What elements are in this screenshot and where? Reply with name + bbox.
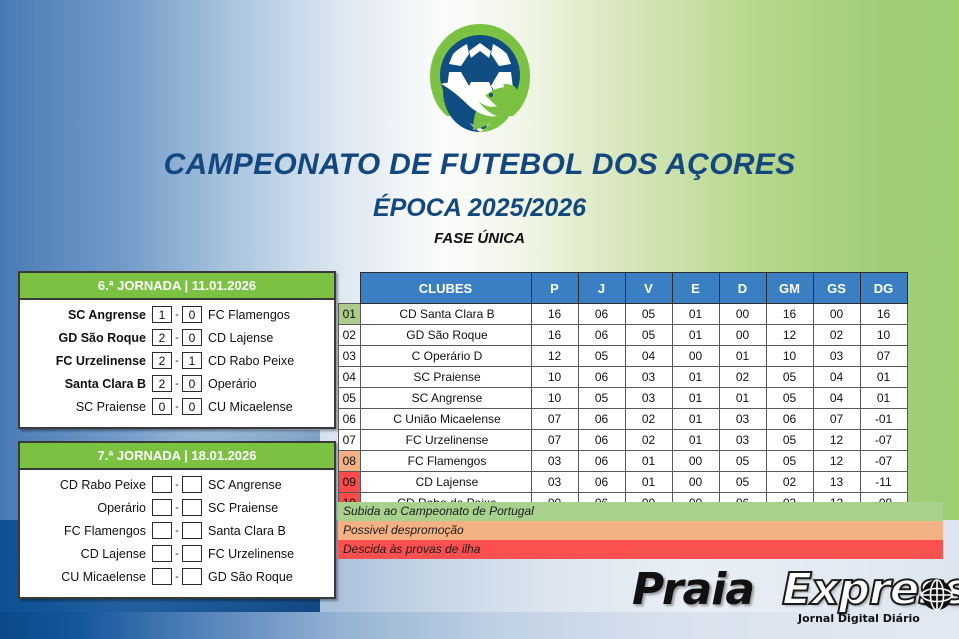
legend-row: Possivel despromoção <box>338 521 943 540</box>
standings-gm: 05 <box>766 430 813 451</box>
fixture-away-score[interactable] <box>182 476 202 493</box>
fixture-home-team: Operário <box>28 501 152 515</box>
standings-club-name: GD São Roque <box>360 325 531 346</box>
fixture-away-score[interactable]: 1 <box>182 352 202 369</box>
standings-gs: 04 <box>813 388 860 409</box>
fixture-home-score[interactable]: 2 <box>152 352 172 369</box>
round-panel-6-title: 6.ª JORNADA | 11.01.2026 <box>20 273 334 300</box>
fixture-dash: - <box>172 332 182 344</box>
fixture-away-score[interactable] <box>182 545 202 562</box>
fixture-home-score[interactable]: 1 <box>152 306 172 323</box>
standings-v: 01 <box>625 472 672 493</box>
fixture-home-score[interactable] <box>152 568 172 585</box>
standings-e: 00 <box>672 472 719 493</box>
table-row: 08FC Flamengos03060100050512-07 <box>339 451 908 472</box>
table-row: 02GD São Roque1606050100120210 <box>339 325 908 346</box>
standings-p: 16 <box>531 325 578 346</box>
fixture-dash: - <box>172 548 182 560</box>
table-row: 06C União Micaelense07060201030607-01 <box>339 409 908 430</box>
standings-p: 10 <box>531 388 578 409</box>
column-header-gm: GM <box>766 273 813 304</box>
standings-j: 06 <box>578 304 625 325</box>
fixture-away-team: FC Flamengos <box>202 308 326 322</box>
fixture-home-score[interactable] <box>152 499 172 516</box>
standings-header-row: CLUBES P J V E D GM GS DG <box>339 273 908 304</box>
fixture-home-team: CD Rabo Peixe <box>28 478 152 492</box>
standings-p: 03 <box>531 472 578 493</box>
fixture-home-team: GD São Roque <box>28 331 152 345</box>
standings-club-name: C Operário D <box>360 346 531 367</box>
praia-express-logo: Praia Express Jornal Digital Diário <box>632 562 954 624</box>
standings-gm: 05 <box>766 367 813 388</box>
standings-d: 05 <box>719 472 766 493</box>
standings-club-name: SC Angrense <box>360 388 531 409</box>
standings-e: 01 <box>672 409 719 430</box>
standings-j: 06 <box>578 430 625 451</box>
round-7-fixtures: CD Rabo Peixe-SC AngrenseOperário-SC Pra… <box>20 470 334 592</box>
standings-gs: 00 <box>813 304 860 325</box>
fixture-home-team: FC Urzelinense <box>28 354 152 368</box>
round-6-fixtures: SC Angrense1-0FC FlamengosGD São Roque2-… <box>20 300 334 422</box>
standings-j: 06 <box>578 472 625 493</box>
fixture-home-score[interactable] <box>152 522 172 539</box>
fixture-row: Operário-SC Praiense <box>28 496 326 519</box>
standings-p: 10 <box>531 367 578 388</box>
fixture-dash: - <box>172 309 182 321</box>
standings-gm: 06 <box>766 409 813 430</box>
standings-p: 07 <box>531 409 578 430</box>
fixture-row: CD Rabo Peixe-SC Angrense <box>28 473 326 496</box>
brand-tagline: Jornal Digital Diário <box>798 612 920 625</box>
table-row: 03C Operário D1205040001100307 <box>339 346 908 367</box>
standings-v: 02 <box>625 430 672 451</box>
standings-club-name: CD Lajense <box>360 472 531 493</box>
standings-club-name: C União Micaelense <box>360 409 531 430</box>
standings-position: 02 <box>339 325 361 346</box>
fixture-home-team: Santa Clara B <box>28 377 152 391</box>
fixture-home-score[interactable]: 2 <box>152 375 172 392</box>
standings-p: 07 <box>531 430 578 451</box>
standings-j: 05 <box>578 346 625 367</box>
table-row: 05SC Angrense1005030101050401 <box>339 388 908 409</box>
column-header-e: E <box>672 273 719 304</box>
fixture-away-team: CD Rabo Peixe <box>202 354 326 368</box>
fixture-dash: - <box>172 571 182 583</box>
table-row: 09CD Lajense03060100050213-11 <box>339 472 908 493</box>
standings-p: 03 <box>531 451 578 472</box>
standings-gm: 05 <box>766 388 813 409</box>
standings-dg: 07 <box>860 346 907 367</box>
standings-dg: -07 <box>860 430 907 451</box>
standings-position: 09 <box>339 472 361 493</box>
fixture-away-team: GD São Roque <box>202 570 326 584</box>
standings-dg: 01 <box>860 388 907 409</box>
column-header-d: D <box>719 273 766 304</box>
standings-j: 06 <box>578 325 625 346</box>
standings-gm: 12 <box>766 325 813 346</box>
column-header-clubes: CLUBES <box>360 273 531 304</box>
standings-position: 03 <box>339 346 361 367</box>
fixture-home-score[interactable]: 2 <box>152 329 172 346</box>
round-panel-7-title: 7.ª JORNADA | 18.01.2026 <box>20 443 334 470</box>
standings-e: 00 <box>672 451 719 472</box>
standings-gm: 16 <box>766 304 813 325</box>
standings-dg: 01 <box>860 367 907 388</box>
standings-position: 05 <box>339 388 361 409</box>
standings-j: 06 <box>578 367 625 388</box>
standings-gs: 03 <box>813 346 860 367</box>
fixture-row: GD São Roque2-0CD Lajense <box>28 326 326 349</box>
fixture-row: FC Urzelinense2-1CD Rabo Peixe <box>28 349 326 372</box>
soccer-ball-leaf-crest-icon <box>405 18 555 138</box>
fixture-row: FC Flamengos-Santa Clara B <box>28 519 326 542</box>
standings-gs: 07 <box>813 409 860 430</box>
standings-d: 01 <box>719 388 766 409</box>
fixture-home-score[interactable] <box>152 476 172 493</box>
standings-v: 03 <box>625 367 672 388</box>
column-header-j: J <box>578 273 625 304</box>
standings-dg: 10 <box>860 325 907 346</box>
standings-gm: 02 <box>766 472 813 493</box>
standings-club-name: FC Flamengos <box>360 451 531 472</box>
page-title: CAMPEONATO DE FUTEBOL DOS AÇORES <box>0 148 959 182</box>
standings-position: 08 <box>339 451 361 472</box>
standings-d: 02 <box>719 367 766 388</box>
fixture-dash: - <box>172 502 182 514</box>
fixture-home-score[interactable]: 0 <box>152 398 172 415</box>
standings-position: 04 <box>339 367 361 388</box>
standings-e: 01 <box>672 388 719 409</box>
fixture-away-score[interactable] <box>182 522 202 539</box>
fixture-home-team: CD Lajense <box>28 547 152 561</box>
standings-club-name: FC Urzelinense <box>360 430 531 451</box>
standings-e: 01 <box>672 304 719 325</box>
standings-d: 05 <box>719 451 766 472</box>
standings-gs: 13 <box>813 472 860 493</box>
fixture-row: CD Lajense-FC Urzelinense <box>28 542 326 565</box>
globe-icon <box>920 578 954 617</box>
standings-dg: -11 <box>860 472 907 493</box>
standings-table: CLUBES P J V E D GM GS DG 01CD Santa Cla… <box>338 272 908 514</box>
standings-d: 03 <box>719 430 766 451</box>
table-row: 01CD Santa Clara B1606050100160016 <box>339 304 908 325</box>
fixture-away-team: Operário <box>202 377 326 391</box>
brand-red-bar <box>632 548 943 555</box>
fixture-away-score[interactable] <box>182 568 202 585</box>
standings-position: 01 <box>339 304 361 325</box>
standings-dg: -01 <box>860 409 907 430</box>
fixture-away-score[interactable] <box>182 499 202 516</box>
standings-gm: 05 <box>766 451 813 472</box>
legend-row: Subida ao Campeonato de Portugal <box>338 502 943 521</box>
fixture-home-team: FC Flamengos <box>28 524 152 538</box>
standings-dg: -07 <box>860 451 907 472</box>
standings-j: 05 <box>578 388 625 409</box>
position-column-header <box>339 273 361 304</box>
fixture-away-team: SC Angrense <box>202 478 326 492</box>
standings-d: 00 <box>719 304 766 325</box>
round-panel-7: 7.ª JORNADA | 18.01.2026 CD Rabo Peixe-S… <box>18 441 336 599</box>
fixture-away-score[interactable]: 0 <box>182 329 202 346</box>
fixture-row: Santa Clara B2-0Operário <box>28 372 326 395</box>
standings-d: 03 <box>719 409 766 430</box>
fixture-dash: - <box>172 355 182 367</box>
standings-table-wrap: CLUBES P J V E D GM GS DG 01CD Santa Cla… <box>338 272 908 514</box>
standings-gm: 10 <box>766 346 813 367</box>
fixture-away-score[interactable]: 0 <box>182 398 202 415</box>
standings-e: 00 <box>672 346 719 367</box>
standings-gs: 12 <box>813 430 860 451</box>
standings-position: 07 <box>339 430 361 451</box>
table-row: 04SC Praiense1006030102050401 <box>339 367 908 388</box>
fixture-row: SC Praiense0-0CU Micaelense <box>28 395 326 418</box>
standings-v: 02 <box>625 409 672 430</box>
standings-v: 04 <box>625 346 672 367</box>
fixture-away-team: CD Lajense <box>202 331 326 345</box>
standings-body: 01CD Santa Clara B160605010016001602GD S… <box>339 304 908 514</box>
standings-j: 06 <box>578 451 625 472</box>
standings-gs: 02 <box>813 325 860 346</box>
fixture-row: SC Angrense1-0FC Flamengos <box>28 303 326 326</box>
fixture-away-team: FC Urzelinense <box>202 547 326 561</box>
standings-e: 01 <box>672 367 719 388</box>
poster-canvas: CAMPEONATO DE FUTEBOL DOS AÇORES ÉPOCA 2… <box>0 0 959 639</box>
fixture-away-score[interactable]: 0 <box>182 375 202 392</box>
fixture-dash: - <box>172 401 182 413</box>
standings-position: 06 <box>339 409 361 430</box>
standings-j: 06 <box>578 409 625 430</box>
season-subtitle: ÉPOCA 2025/2026 <box>0 194 959 223</box>
standings-gs: 04 <box>813 367 860 388</box>
standings-d: 00 <box>719 325 766 346</box>
brand-word-praia: Praia <box>632 564 754 615</box>
fixture-dash: - <box>172 525 182 537</box>
standings-e: 01 <box>672 430 719 451</box>
fixture-row: CU Micaelense-GD São Roque <box>28 565 326 588</box>
standings-e: 01 <box>672 325 719 346</box>
table-row: 07FC Urzelinense07060201030512-07 <box>339 430 908 451</box>
column-header-v: V <box>625 273 672 304</box>
column-header-dg: DG <box>860 273 907 304</box>
fixture-away-team: CU Micaelense <box>202 400 326 414</box>
phase-label: FASE ÚNICA <box>0 230 959 247</box>
fixture-home-team: SC Angrense <box>28 308 152 322</box>
standings-p: 12 <box>531 346 578 367</box>
fixture-away-team: SC Praiense <box>202 501 326 515</box>
fixture-dash: - <box>172 479 182 491</box>
fixture-home-team: CU Micaelense <box>28 570 152 584</box>
standings-v: 05 <box>625 325 672 346</box>
column-header-gs: GS <box>813 273 860 304</box>
column-header-p: P <box>531 273 578 304</box>
standings-v: 01 <box>625 451 672 472</box>
standings-club-name: CD Santa Clara B <box>360 304 531 325</box>
fixture-away-team: Santa Clara B <box>202 524 326 538</box>
standings-p: 16 <box>531 304 578 325</box>
fixture-home-score[interactable] <box>152 545 172 562</box>
standings-dg: 16 <box>860 304 907 325</box>
round-panel-6: 6.ª JORNADA | 11.01.2026 SC Angrense1-0F… <box>18 271 336 429</box>
standings-v: 05 <box>625 304 672 325</box>
standings-gs: 12 <box>813 451 860 472</box>
standings-club-name: SC Praiense <box>360 367 531 388</box>
standings-v: 03 <box>625 388 672 409</box>
fixture-away-score[interactable]: 0 <box>182 306 202 323</box>
standings-d: 01 <box>719 346 766 367</box>
fixture-dash: - <box>172 378 182 390</box>
fixture-home-team: SC Praiense <box>28 400 152 414</box>
